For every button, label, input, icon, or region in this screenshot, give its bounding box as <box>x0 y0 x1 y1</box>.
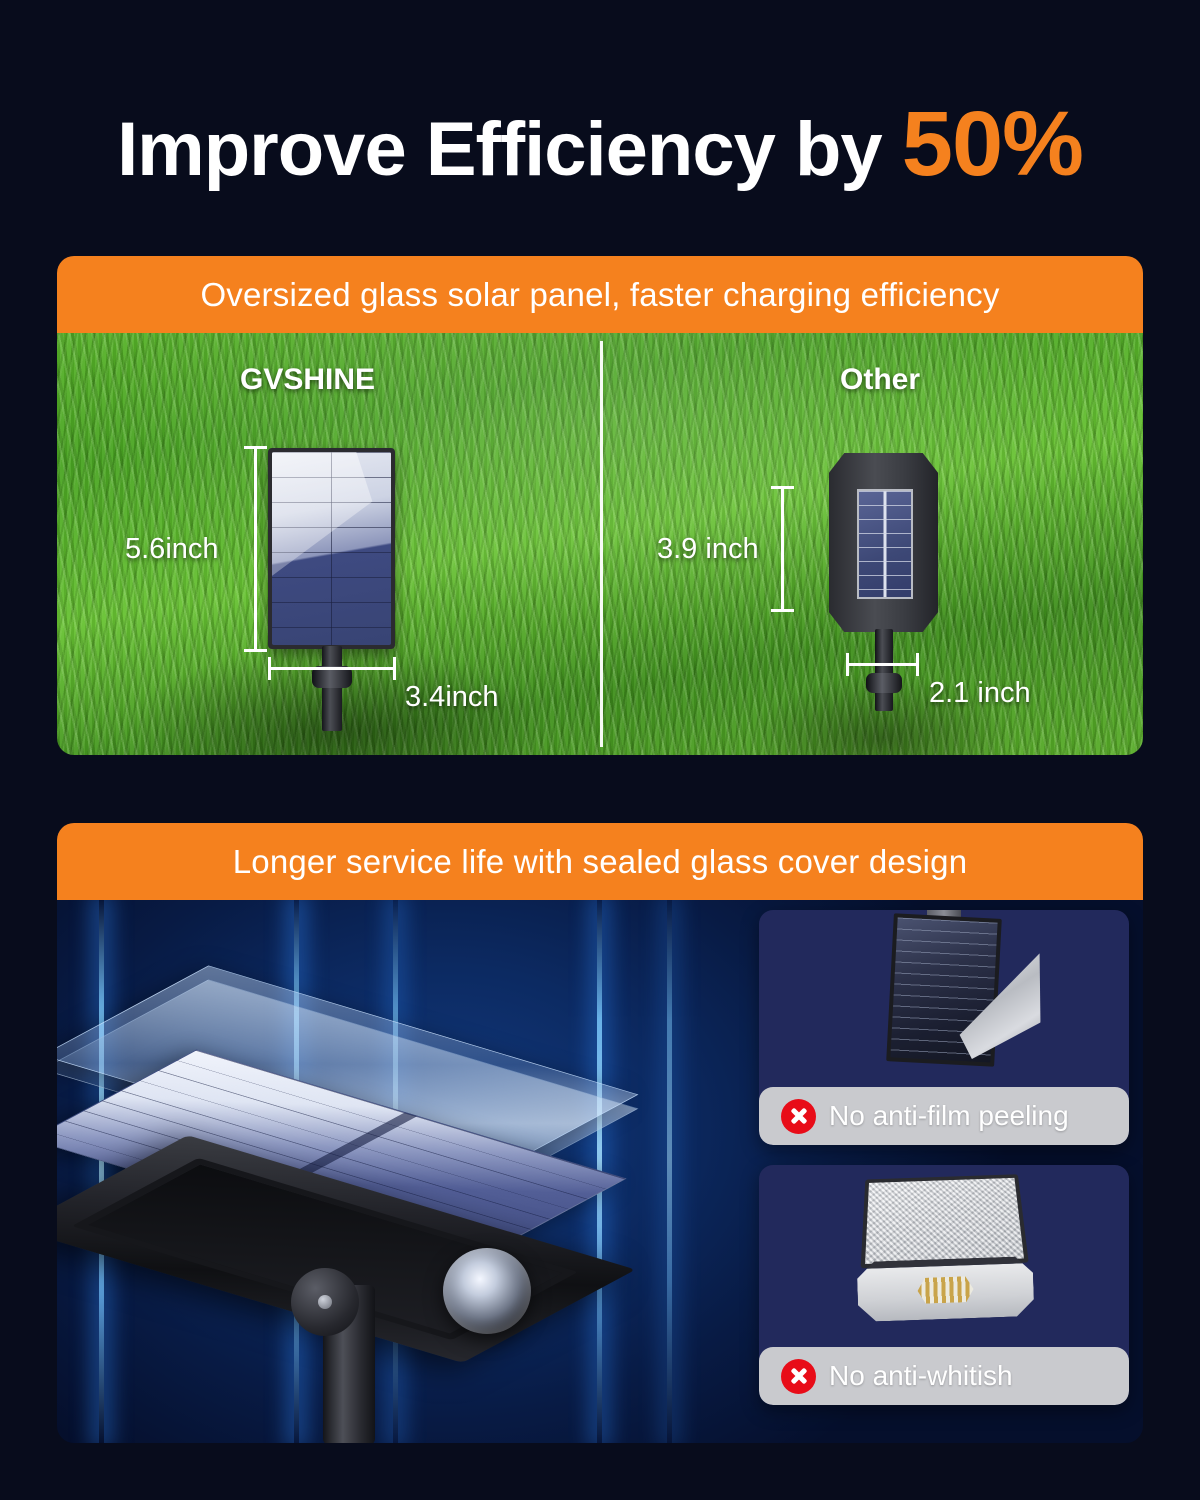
other-stem <box>875 629 893 711</box>
caption-bar: No anti-film peeling <box>759 1087 1129 1145</box>
sealed-glass-photo: No anti-film peeling No anti-whitish <box>57 900 1143 1443</box>
other-width-rule <box>846 663 919 666</box>
caption-text: No anti-whitish <box>829 1360 1013 1392</box>
whitish-led-cluster <box>917 1276 974 1304</box>
gvshine-height-rule <box>254 446 257 652</box>
x-circle-icon <box>781 1359 816 1394</box>
gvshine-height-label: 5.6inch <box>125 533 219 566</box>
headline-accent: 50% <box>902 93 1083 195</box>
infographic-page: Improve Efficiency by 50% Oversized glas… <box>0 0 1200 1500</box>
gvshine-panel-cells <box>272 452 391 645</box>
label-brand-gvshine: GVSHINE <box>240 363 375 397</box>
gvshine-solar-panel <box>268 448 395 649</box>
banner-sealed-glass: Longer service life with sealed glass co… <box>57 823 1143 900</box>
other-panel-cells <box>859 491 911 597</box>
banner-panel-comparison: Oversized glass solar panel, faster char… <box>57 256 1143 333</box>
gvshine-stem <box>322 646 342 731</box>
comparison-photo: GVSHINE 5.6inch 3.4inch Other <box>57 333 1143 755</box>
other-height-rule <box>781 486 784 612</box>
exploded-product-view <box>95 930 715 1430</box>
gvshine-width-label: 3.4inch <box>405 681 499 714</box>
hinge-knob <box>291 1268 359 1336</box>
other-solar-panel <box>857 489 913 599</box>
label-brand-other: Other <box>840 363 920 397</box>
whitish-fixture <box>854 1170 1035 1322</box>
other-collar <box>866 673 902 693</box>
x-circle-icon <box>781 1099 816 1134</box>
card-no-anti-film-peeling: No anti-film peeling <box>759 910 1129 1145</box>
card-photo-whitish <box>759 1165 1129 1326</box>
other-height-label: 3.9 inch <box>657 533 759 566</box>
led-lamp-head <box>443 1248 531 1334</box>
headline-primary: Improve Efficiency by <box>117 107 882 192</box>
card-photo-peeling <box>759 910 1129 1071</box>
comparison-divider <box>600 341 603 747</box>
whitish-panel-surface <box>861 1174 1029 1268</box>
other-width-label: 2.1 inch <box>929 677 1031 710</box>
gvshine-width-rule <box>268 667 396 670</box>
product-gvshine-light <box>268 448 395 649</box>
section-panel-comparison: Oversized glass solar panel, faster char… <box>57 256 1143 755</box>
page-title: Improve Efficiency by 50% <box>0 92 1200 197</box>
caption-text: No anti-film peeling <box>829 1100 1069 1132</box>
product-other-light <box>829 453 938 632</box>
card-no-anti-whitish: No anti-whitish <box>759 1165 1129 1405</box>
other-housing <box>829 453 938 632</box>
section-sealed-glass: Longer service life with sealed glass co… <box>57 823 1143 1443</box>
caption-bar: No anti-whitish <box>759 1347 1129 1405</box>
